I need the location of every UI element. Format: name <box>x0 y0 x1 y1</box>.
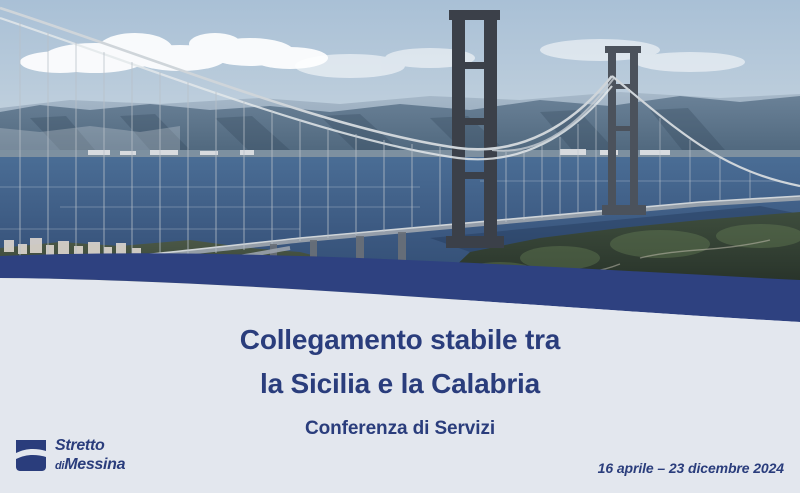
logo-text-messina: Messina <box>64 456 125 473</box>
title-block: Collegamento stabile tra la Sicilia e la… <box>0 318 800 446</box>
presentation-slide: Collegamento stabile tra la Sicilia e la… <box>0 0 800 493</box>
stretto-di-messina-logo: Stretto diMessina <box>14 437 125 473</box>
title-line-1: Collegamento stabile tra <box>0 318 800 362</box>
logo-text-stretto: Stretto <box>55 438 125 454</box>
logo-text-di-messina: diMessina <box>55 457 125 473</box>
logo-text-di: di <box>55 460 64 472</box>
date-range: 16 aprile – 23 dicembre 2024 <box>598 460 784 476</box>
title-line-2: la Sicilia e la Calabria <box>0 362 800 406</box>
logo-wordmark: Stretto diMessina <box>55 438 125 473</box>
slide-content: Collegamento stabile tra la Sicilia e la… <box>0 300 800 493</box>
bridge-strait-logo-icon <box>14 437 48 473</box>
